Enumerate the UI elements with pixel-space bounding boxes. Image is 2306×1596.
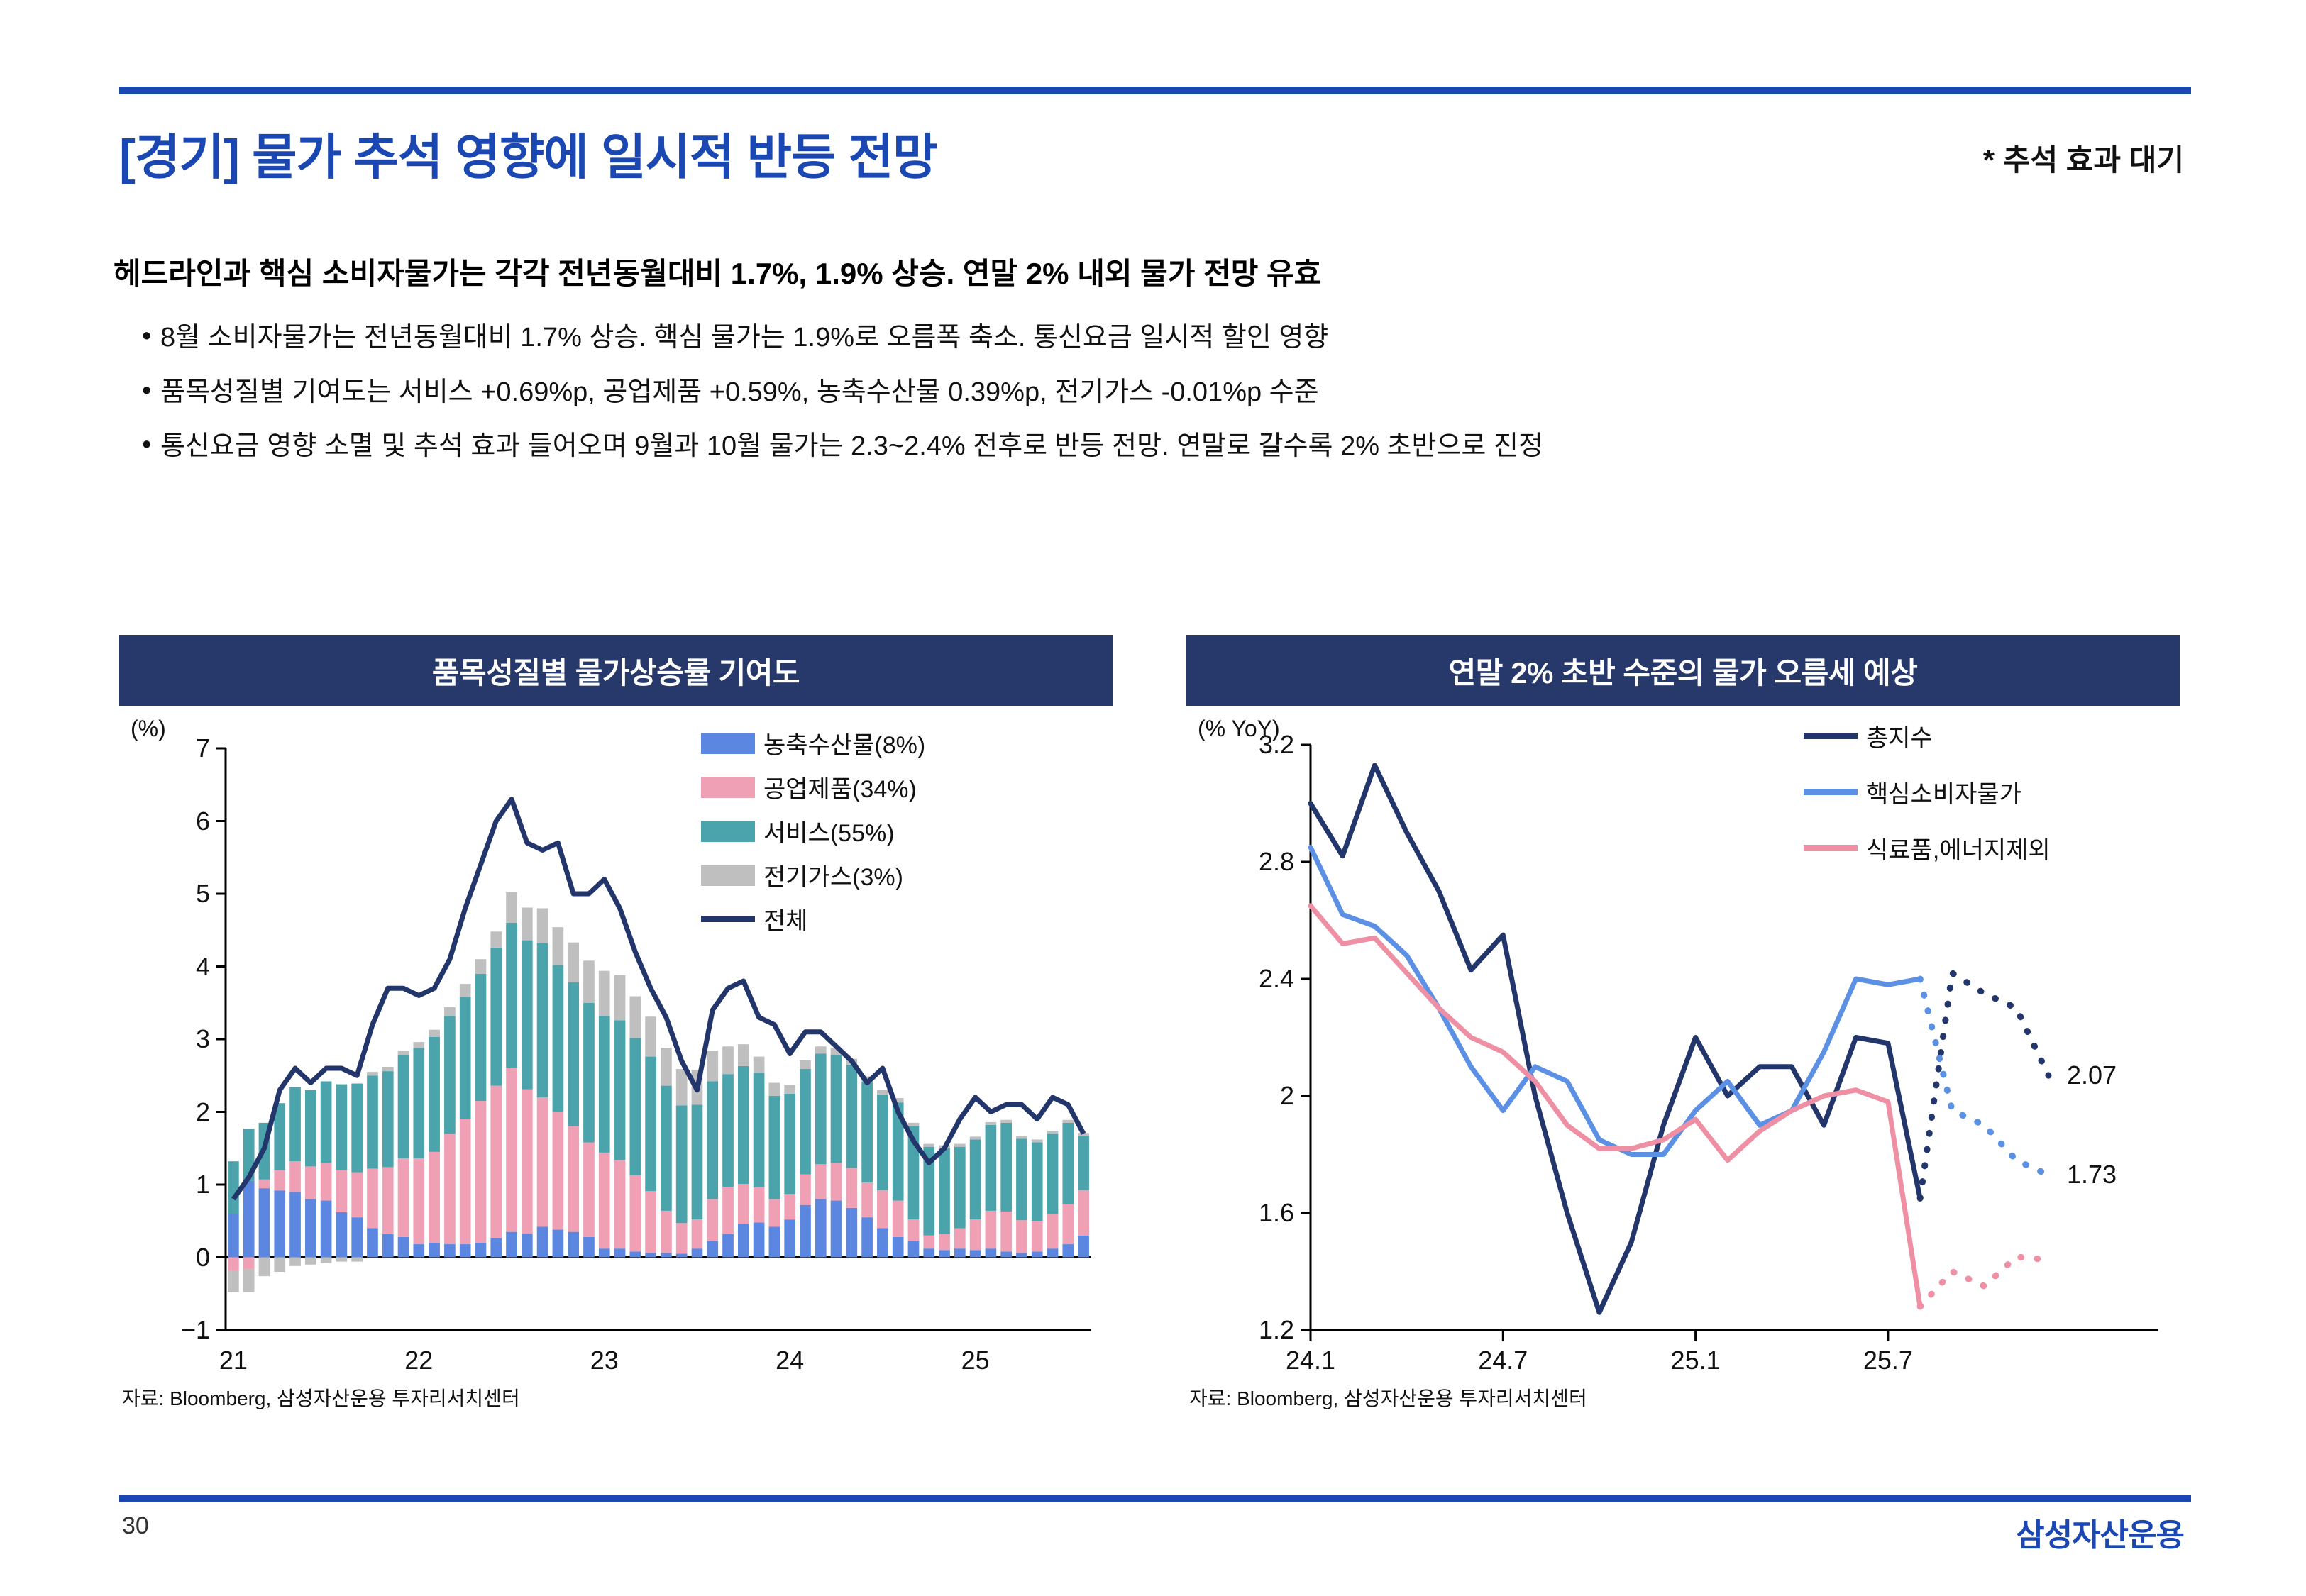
x-axis-tick-label: 21 bbox=[219, 1346, 248, 1375]
x-axis-tick-label: 24 bbox=[776, 1346, 804, 1375]
header-top-rule bbox=[119, 87, 2191, 94]
data-point-label: 1.73 bbox=[2067, 1160, 2117, 1190]
legend-item: 농축수산물(8%) bbox=[701, 726, 925, 760]
x-axis-tick-label: 22 bbox=[404, 1346, 433, 1375]
chart-title-right: 연말 2% 초반 수준의 물가 오름세 예상 bbox=[1186, 635, 2180, 706]
legend-line-icon bbox=[1804, 733, 1858, 739]
source-note-right: 자료: Bloomberg, 삼성자산운용 투자리서치센터 bbox=[1189, 1383, 1587, 1412]
x-axis-tick-label: 24.1 bbox=[1286, 1346, 1335, 1375]
legend-item: 총지수 bbox=[1804, 719, 2051, 753]
source-note-left: 자료: Bloomberg, 삼성자산운용 투자리서치센터 bbox=[122, 1383, 520, 1412]
y-axis-tick-label: 5 bbox=[148, 879, 210, 909]
y-axis-tick-label: 3 bbox=[148, 1024, 210, 1054]
list-item: • 8월 소비자물가는 전년동월대비 1.7% 상승. 핵심 물가는 1.9%로… bbox=[142, 323, 1543, 354]
y-axis-tick-label: 2.4 bbox=[1215, 964, 1294, 994]
legend-label: 공업제품(34%) bbox=[763, 770, 917, 804]
legend-swatch-icon bbox=[701, 865, 755, 886]
legend-label: 총지수 bbox=[1866, 719, 1933, 753]
bullet-list: • 8월 소비자물가는 전년동월대비 1.7% 상승. 핵심 물가는 1.9%로… bbox=[142, 323, 1543, 486]
lead-statement: 헤드라인과 핵심 소비자물가는 각각 전년동월대비 1.7%, 1.9% 상승.… bbox=[114, 250, 1321, 293]
y-axis-tick-label: 0 bbox=[148, 1243, 210, 1273]
y-axis-tick-label: 1.2 bbox=[1215, 1315, 1294, 1345]
legend-label: 농축수산물(8%) bbox=[763, 726, 925, 760]
bullet-text: 8월 소비자물가는 전년동월대비 1.7% 상승. 핵심 물가는 1.9%로 오… bbox=[160, 323, 1328, 354]
y-axis-tick-label: 2 bbox=[148, 1097, 210, 1127]
bullet-dot-icon: • bbox=[142, 323, 160, 351]
chart-title-left: 품목성질별 물가상승률 기여도 bbox=[119, 635, 1113, 706]
x-axis-tick-label: 23 bbox=[590, 1346, 619, 1375]
x-axis-tick-label: 25.7 bbox=[1863, 1346, 1913, 1375]
y-axis-tick-label: 7 bbox=[148, 733, 210, 763]
x-axis-tick-label: 25.1 bbox=[1671, 1346, 1721, 1375]
chart-plot-right: (% YoY) 1.21.622.42.83.2 24.124.725.125.… bbox=[1186, 706, 2180, 1422]
legend-swatch-icon bbox=[701, 821, 755, 842]
bullet-text: 통신요금 영향 소멸 및 추석 효과 들어오며 9월과 10월 물가는 2.3~… bbox=[160, 431, 1543, 462]
bullet-dot-icon: • bbox=[142, 431, 160, 460]
page-title: [경기] 물가 추석 영향에 일시적 반등 전망 bbox=[119, 117, 937, 188]
footer-rule bbox=[119, 1495, 2191, 1502]
legend-label: 식료품,에너지제외 bbox=[1866, 831, 2051, 865]
list-item: • 품목성질별 기여도는 서비스 +0.69%p, 공업제품 +0.59%, 농… bbox=[142, 377, 1543, 409]
legend-item: 전기가스(3%) bbox=[701, 858, 925, 892]
legend-label: 전체 bbox=[763, 902, 808, 936]
legend-line-icon bbox=[701, 916, 755, 922]
slide: [경기] 물가 추석 영향에 일시적 반등 전망 * 추석 효과 대기 헤드라인… bbox=[0, 0, 2306, 1596]
bullet-dot-icon: • bbox=[142, 377, 160, 406]
legend-swatch-icon bbox=[701, 733, 755, 754]
data-point-label: 2.07 bbox=[2067, 1060, 2117, 1090]
bullet-text: 품목성질별 기여도는 서비스 +0.69%p, 공업제품 +0.59%, 농축수… bbox=[160, 377, 1319, 409]
brand-logo: 삼성자산운용 bbox=[2016, 1509, 2184, 1555]
y-axis-tick-label: 1.6 bbox=[1215, 1198, 1294, 1228]
y-axis-tick-label: 6 bbox=[148, 807, 210, 836]
legend-item: 서비스(55%) bbox=[701, 814, 925, 848]
chart-plot-left: (%) −101234567 2122232425 농축수산물(8%)공업제품(… bbox=[119, 706, 1113, 1422]
legend-line-icon bbox=[1804, 845, 1858, 851]
y-axis-tick-label: 4 bbox=[148, 952, 210, 982]
x-axis-tick-label: 24.7 bbox=[1478, 1346, 1528, 1375]
header-note: * 추석 효과 대기 bbox=[1983, 136, 2184, 179]
legend-line-icon bbox=[1804, 789, 1858, 795]
y-axis-tick-label: 3.2 bbox=[1215, 730, 1294, 760]
legend-label: 핵심소비자물가 bbox=[1866, 775, 2021, 809]
legend-item: 식료품,에너지제외 bbox=[1804, 831, 2051, 865]
y-axis-tick-label: −1 bbox=[148, 1315, 210, 1345]
list-item: • 통신요금 영향 소멸 및 추석 효과 들어오며 9월과 10월 물가는 2.… bbox=[142, 431, 1543, 462]
legend-item: 핵심소비자물가 bbox=[1804, 775, 2051, 809]
chart-legend-right: 총지수핵심소비자물가식료품,에너지제외 bbox=[1804, 719, 2051, 887]
legend-label: 서비스(55%) bbox=[763, 814, 895, 848]
y-axis-tick-label: 2 bbox=[1215, 1081, 1294, 1111]
page-number: 30 bbox=[122, 1512, 149, 1540]
legend-label: 전기가스(3%) bbox=[763, 858, 903, 892]
legend-swatch-icon bbox=[701, 777, 755, 798]
y-axis-tick-label: 2.8 bbox=[1215, 847, 1294, 877]
legend-item: 전체 bbox=[701, 902, 925, 936]
y-axis-tick-label: 1 bbox=[148, 1170, 210, 1199]
stacked-bar-chart bbox=[119, 706, 1113, 1422]
chart-panel-left: 품목성질별 물가상승률 기여도 (%) −101234567 212223242… bbox=[119, 635, 1113, 1422]
chart-legend-left: 농축수산물(8%)공업제품(34%)서비스(55%)전기가스(3%)전체 bbox=[701, 726, 925, 946]
chart-panel-right: 연말 2% 초반 수준의 물가 오름세 예상 (% YoY) 1.21.622.… bbox=[1186, 635, 2180, 1422]
x-axis-tick-label: 25 bbox=[961, 1346, 990, 1375]
legend-item: 공업제품(34%) bbox=[701, 770, 925, 804]
